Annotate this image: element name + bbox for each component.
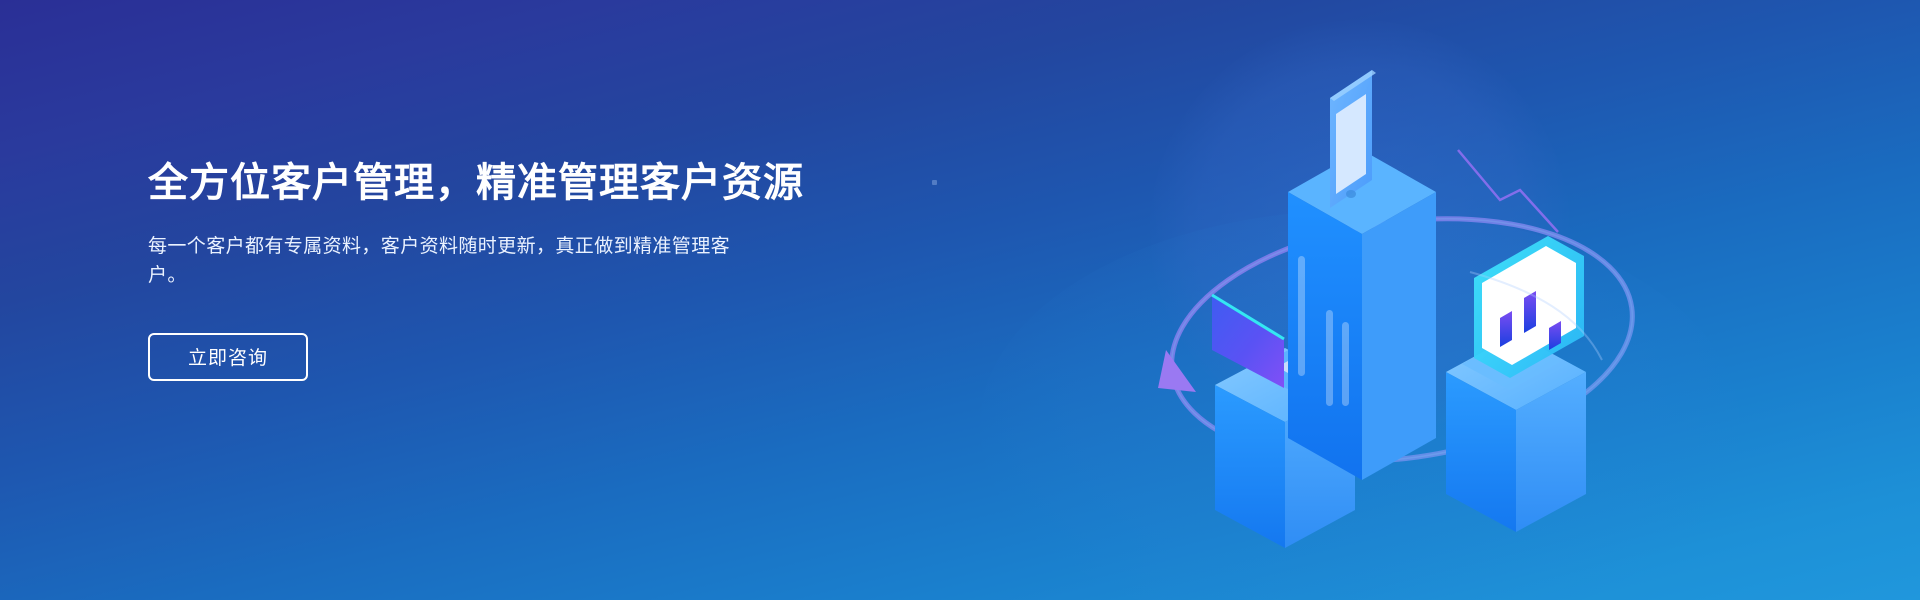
hero-banner: 全方位客户管理，精准管理客户资源 每一个客户都有专属资料，客户资料随时更新，真正… <box>0 0 1920 600</box>
page-title: 全方位客户管理，精准管理客户资源 <box>148 160 768 206</box>
background-speck <box>932 180 937 185</box>
hero-subcopy: 每一个客户都有专属资料，客户资料随时更新，真正做到精准管理客户。 <box>148 232 748 291</box>
consult-now-button[interactable]: 立即咨询 <box>148 333 308 381</box>
hero-illustration <box>1140 40 1660 560</box>
orbit-arrow-left <box>1158 350 1196 392</box>
hero-copy-block: 全方位客户管理，精准管理客户资源 每一个客户都有专属资料，客户资料随时更新，真正… <box>148 160 768 381</box>
isometric-devices-illustration <box>1140 40 1660 560</box>
center-pillar <box>1288 150 1436 480</box>
